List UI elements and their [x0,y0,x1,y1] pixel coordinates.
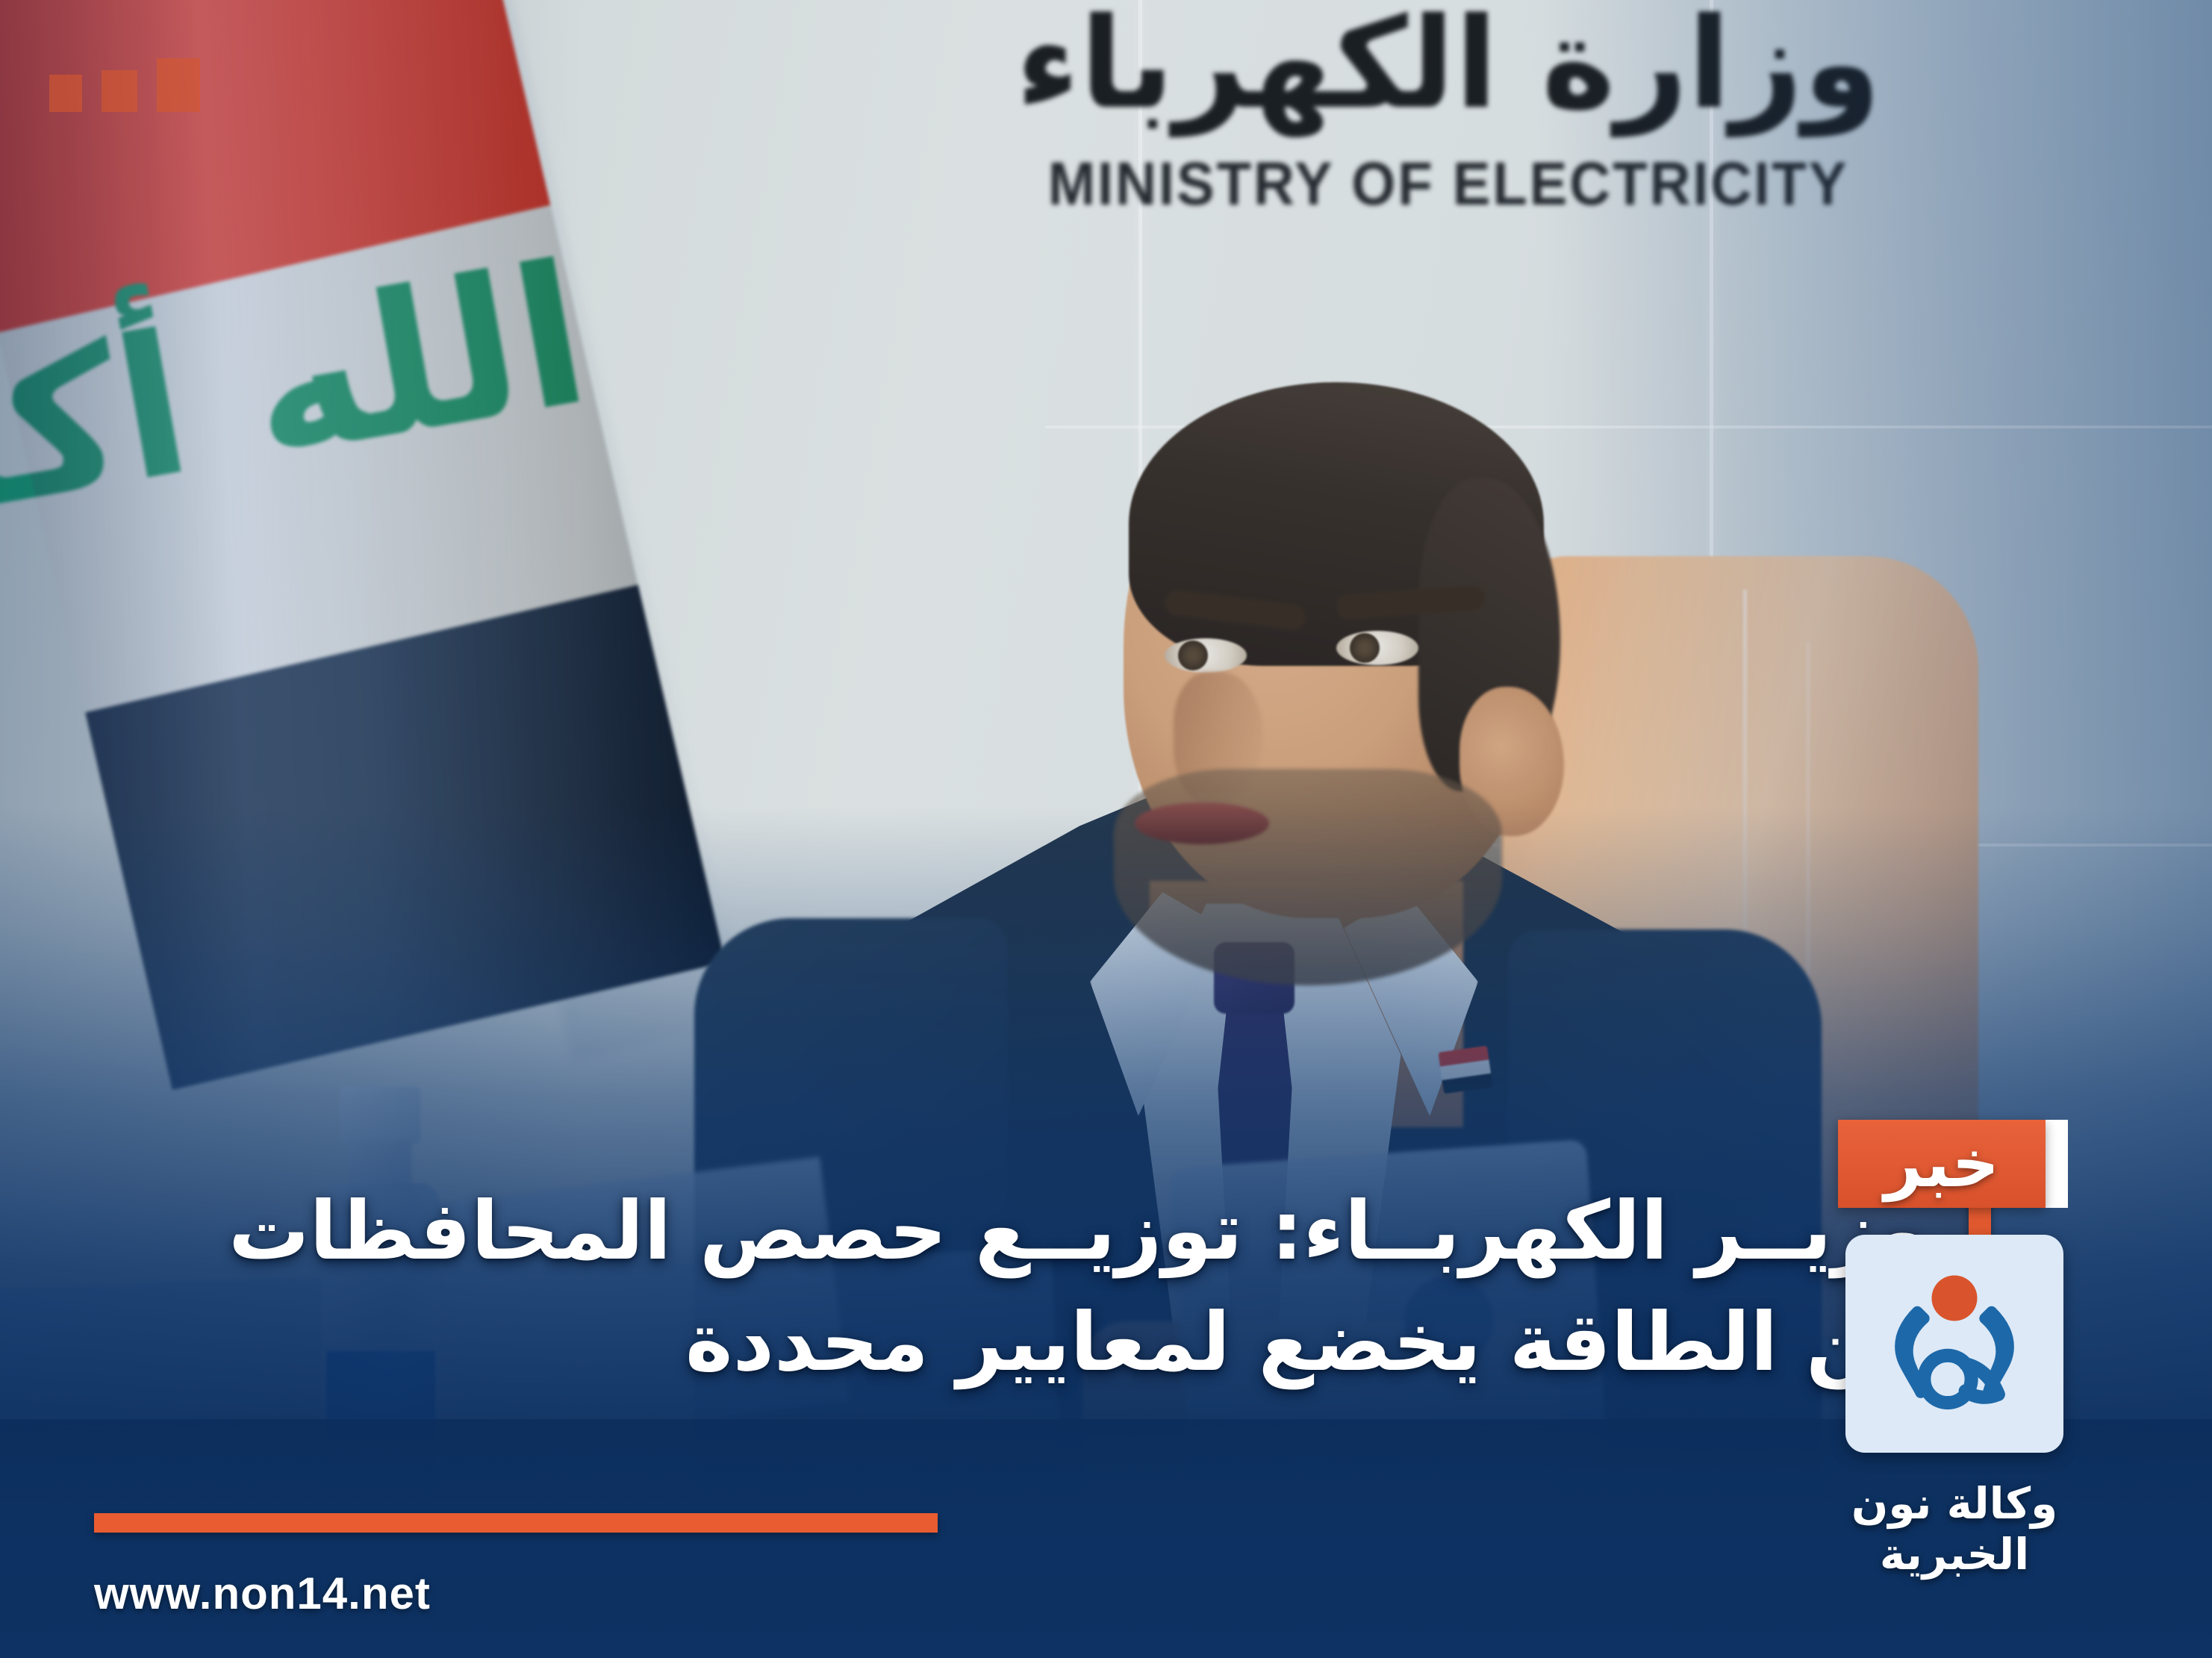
badge-fill: خبر [1838,1120,2046,1208]
noon-letter-logo-icon [1870,1259,2039,1428]
headline-line-1: وزيــر الكهربــاء: توزيــع حصص المحافظات [301,1176,1928,1287]
headline: وزيــر الكهربــاء: توزيــع حصص المحافظات… [301,1176,1928,1398]
agency-name: وكالة نون الخبرية [1779,1478,2130,1580]
badge-label: خبر [1884,1131,1999,1197]
news-badge: خبر [1779,1120,2130,1208]
headline-line-2: من الطاقة يخضع لمعايير محددة [301,1287,1928,1398]
footer-rule [94,1513,938,1533]
brand-block: خبر وكالة نون الخبرية [1779,1120,2130,1580]
watermark-squares-icon [49,58,200,112]
news-card: وزارة الكهرباء MINISTRY OF ELECTRICITY ا… [0,0,2212,1658]
website-url[interactable]: www.non14.net [94,1568,431,1619]
badge-tick [2046,1120,2068,1208]
agency-logo[interactable] [1845,1235,2063,1453]
